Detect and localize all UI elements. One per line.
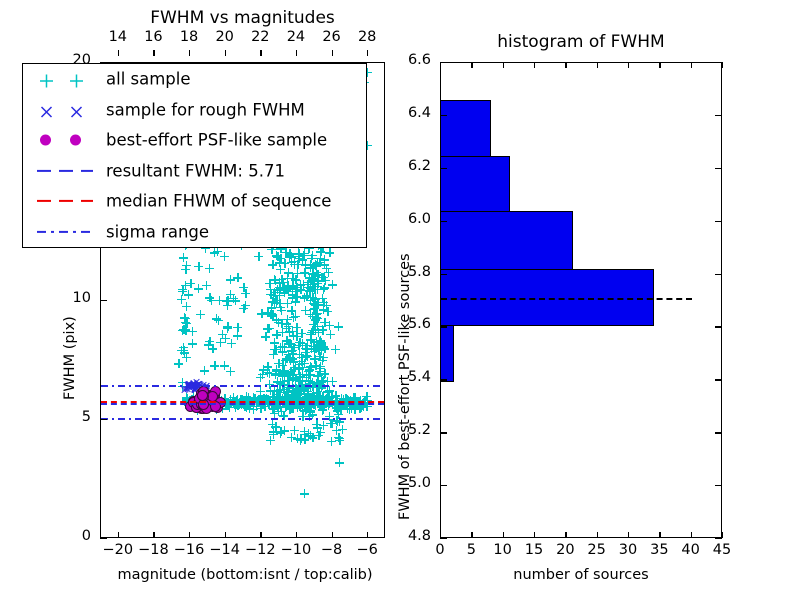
scatter-point-all xyxy=(261,332,270,341)
scatter-point-all xyxy=(320,255,329,264)
figure-canvas: FWHM vs magnitudes 1416182022242628 0510… xyxy=(0,0,800,600)
scatter-point-all xyxy=(188,339,197,348)
axis-tick-label: 5 xyxy=(467,542,476,558)
axis-tick-label: 6.2 xyxy=(408,158,431,174)
axis-tick-label: 15 xyxy=(525,542,543,558)
scatter-point-all xyxy=(319,285,328,294)
scatter-point-all xyxy=(273,387,282,396)
axis-tick-label: −20 xyxy=(103,542,134,558)
scatter-point-all xyxy=(205,264,214,273)
axis-tick-label: 18 xyxy=(180,29,198,45)
plus-icon xyxy=(70,73,83,86)
legend-item-label: sample for rough FWHM xyxy=(106,100,305,119)
axis-tick xyxy=(296,50,297,56)
axis-tick-label: 40 xyxy=(681,542,699,558)
scatter-point-all xyxy=(178,287,187,296)
axis-tick-label: −14 xyxy=(209,542,240,558)
scatter-point-all xyxy=(239,283,248,292)
axis-tick xyxy=(440,538,447,539)
histogram-bar xyxy=(441,156,510,213)
scatter-y-axis-label: FWHM (pix) xyxy=(62,316,78,400)
scatter-title: FWHM vs magnitudes xyxy=(100,8,385,28)
scatter-point-all xyxy=(308,282,317,291)
scatter-point-all xyxy=(335,434,344,443)
axis-tick-label: 30 xyxy=(619,542,637,558)
scatter-point-all xyxy=(322,264,331,273)
scatter-point-all xyxy=(312,420,321,429)
legend-item: all sample xyxy=(23,64,366,95)
axis-tick xyxy=(332,50,333,56)
legend-item: resultant FWHM: 5.71 xyxy=(23,156,366,187)
legend-item-label: resultant FWHM: 5.71 xyxy=(106,161,285,180)
dashed-line-icon xyxy=(37,200,93,202)
scatter-point-all xyxy=(270,409,279,418)
scatter-point-all xyxy=(181,326,190,335)
scatter-point-all xyxy=(254,252,263,261)
histogram-bar xyxy=(441,211,573,270)
scatter-point-all xyxy=(300,489,309,498)
dash-dot-line-icon xyxy=(37,231,93,233)
scatter-point-all xyxy=(212,314,221,323)
histogram-y-axis-label: FWHM of best-effort PSF-like sources xyxy=(397,253,413,520)
filled-circle-icon xyxy=(40,135,51,146)
scatter-point-all xyxy=(220,361,229,370)
axis-tick xyxy=(100,538,107,539)
scatter-point-all xyxy=(323,307,332,316)
scatter-point-all xyxy=(196,310,205,319)
filled-circle-icon xyxy=(70,135,81,146)
scatter-point-all xyxy=(291,297,300,306)
histogram-plot-area xyxy=(440,62,722,538)
plus-icon xyxy=(40,73,53,86)
axis-tick-label: −12 xyxy=(245,542,276,558)
scatter-point-all xyxy=(315,364,324,373)
axis-tick-label: 16 xyxy=(144,29,162,45)
scatter-point-all xyxy=(325,321,334,330)
axis-tick xyxy=(722,62,723,68)
legend-item-label: sigma range xyxy=(106,222,209,241)
axis-tick xyxy=(189,50,190,56)
axis-tick-label: 10 xyxy=(73,290,91,306)
dashed-line-icon xyxy=(37,170,93,172)
scatter-point-all xyxy=(285,339,294,348)
axis-tick-label: −6 xyxy=(357,542,378,558)
scatter-point-all xyxy=(210,361,219,370)
axis-tick-label: 35 xyxy=(650,542,668,558)
axis-tick xyxy=(722,532,723,538)
cross-icon xyxy=(70,103,83,116)
scatter-point-all xyxy=(239,304,248,313)
axis-tick xyxy=(367,50,368,56)
axis-tick-label: 45 xyxy=(713,542,731,558)
axis-tick-label: 20 xyxy=(215,29,233,45)
scatter-hline-sigma-lower xyxy=(101,418,384,420)
scatter-point-all xyxy=(285,327,294,336)
legend-item: best-effort PSF-like sample xyxy=(23,125,366,156)
axis-tick xyxy=(715,538,722,539)
scatter-point-all xyxy=(231,296,240,305)
scatter-point-all xyxy=(278,367,287,376)
scatter-point-all xyxy=(270,338,279,347)
scatter-y-axis-label-wrap: FWHM (pix) xyxy=(62,400,146,416)
axis-tick-label: 6.6 xyxy=(408,52,431,68)
axis-tick xyxy=(225,50,226,56)
legend-item-label: median FHWM of sequence xyxy=(106,192,331,211)
scatter-point-all xyxy=(180,348,189,357)
scatter-point-all xyxy=(182,261,191,270)
scatter-point-all xyxy=(287,306,296,315)
scatter-point-all xyxy=(226,275,235,284)
scatter-point-all xyxy=(200,366,209,375)
legend-item-label: best-effort PSF-like sample xyxy=(106,131,327,150)
axis-tick-label: −16 xyxy=(174,542,205,558)
histogram-y-axis-label-wrap: FWHM of best-effort PSF-like sources xyxy=(397,520,664,536)
histogram-hline-resultant-fwhm xyxy=(441,298,692,300)
axis-tick-label: 24 xyxy=(287,29,305,45)
axis-tick xyxy=(260,50,261,56)
axis-tick-label: −18 xyxy=(138,542,169,558)
scatter-point-all xyxy=(276,254,285,263)
histogram-bar xyxy=(441,100,491,157)
axis-tick xyxy=(118,50,119,56)
scatter-point-all xyxy=(334,322,343,331)
scatter-point-all xyxy=(304,429,313,438)
scatter-point-all xyxy=(265,279,274,288)
scatter-point-all xyxy=(194,262,203,271)
scatter-point-all xyxy=(331,345,340,354)
scatter-point-all xyxy=(320,344,329,353)
scatter-point-all xyxy=(216,338,225,347)
scatter-point-all xyxy=(284,287,293,296)
scatter-point-all xyxy=(205,293,214,302)
axis-tick-label: 20 xyxy=(556,542,574,558)
axis-tick xyxy=(153,50,154,56)
scatter-point-all xyxy=(274,318,283,327)
scatter-point-all xyxy=(278,278,287,287)
scatter-point-all xyxy=(227,339,236,348)
axis-tick-label: 0 xyxy=(435,542,444,558)
scatter-point-all xyxy=(328,280,337,289)
legend-item: median FHWM of sequence xyxy=(23,186,366,217)
scatter-hline-sigma-upper xyxy=(101,385,384,387)
axis-tick-label: 28 xyxy=(358,29,376,45)
scatter-top-axis: 1416182022242628 xyxy=(100,30,385,50)
scatter-point-all xyxy=(263,308,272,317)
histogram-bar xyxy=(441,325,454,382)
scatter-point-all xyxy=(204,340,213,349)
scatter-point-all xyxy=(276,427,285,436)
axis-tick-label: 6.4 xyxy=(408,105,431,121)
scatter-point-all xyxy=(268,260,277,269)
scatter-point-all xyxy=(311,325,320,334)
scatter-point-all xyxy=(181,318,190,327)
scatter-point-all xyxy=(301,344,310,353)
axis-tick-label: −10 xyxy=(281,542,312,558)
histogram-data-layer xyxy=(441,63,721,537)
scatter-x-axis-label: magnitude (bottom:isnt / top:calib) xyxy=(60,567,430,583)
axis-tick-label: 0 xyxy=(82,528,91,544)
axis-tick-label: 14 xyxy=(109,29,127,45)
scatter-point-all xyxy=(304,376,313,385)
scatter-point-all xyxy=(233,323,242,332)
scatter-point-all xyxy=(306,362,315,371)
legend-item: sigma range xyxy=(23,217,366,248)
scatter-point-all xyxy=(307,335,316,344)
legend-box: all samplesample for rough FWHMbest-effo… xyxy=(22,63,367,248)
scatter-point-all xyxy=(316,336,325,345)
histogram-title: histogram of FWHM xyxy=(440,32,722,52)
scatter-point-all xyxy=(266,436,275,445)
histogram-x-axis-label: number of sources xyxy=(440,567,722,583)
axis-tick-label: 26 xyxy=(322,29,340,45)
axis-tick-label: 6.0 xyxy=(408,211,431,227)
cross-icon xyxy=(40,103,53,116)
scatter-point-all xyxy=(312,310,321,319)
axis-tick-label: 10 xyxy=(493,542,511,558)
scatter-point-all xyxy=(258,370,267,379)
legend-item: sample for rough FWHM xyxy=(23,95,366,126)
scatter-point-all xyxy=(223,301,232,310)
scatter-point-all xyxy=(202,281,211,290)
axis-tick-label: −8 xyxy=(321,542,342,558)
scatter-point-psf xyxy=(197,390,208,401)
scatter-point-all xyxy=(335,458,344,467)
scatter-point-all xyxy=(269,291,278,300)
scatter-point-all xyxy=(298,255,307,264)
legend-item-label: all sample xyxy=(106,70,191,89)
axis-tick-label: 22 xyxy=(251,29,269,45)
scatter-point-all xyxy=(290,426,299,435)
scatter-point-all xyxy=(313,300,322,309)
scatter-point-all xyxy=(182,302,191,311)
scatter-point-all xyxy=(317,273,326,282)
axis-tick-label: 25 xyxy=(587,542,605,558)
